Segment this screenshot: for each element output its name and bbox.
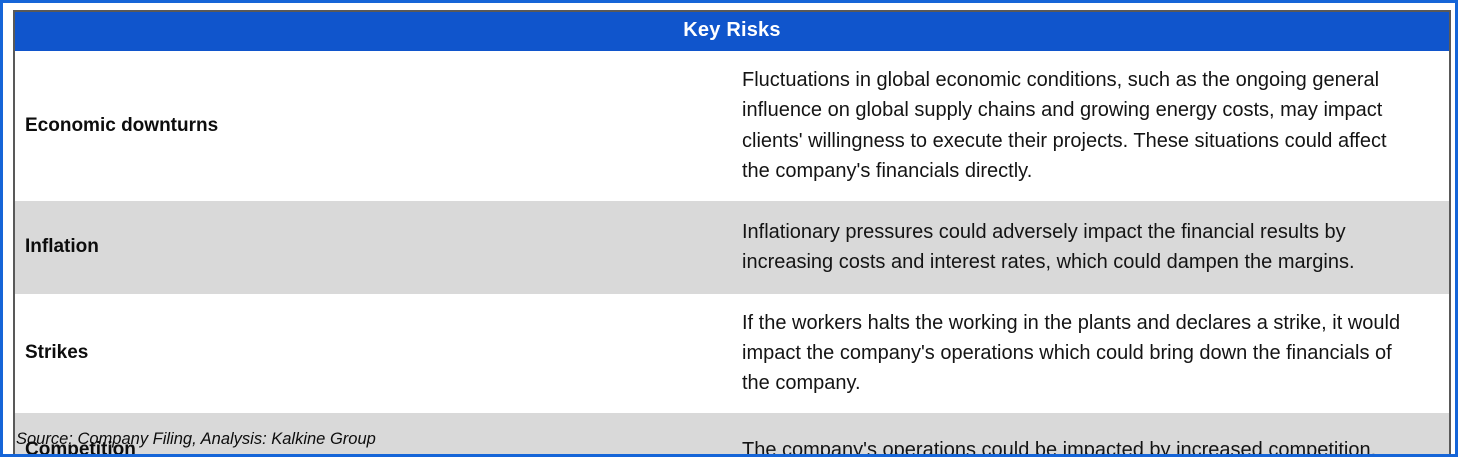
source-note: Source: Company Filing, Analysis: Kalkin…: [16, 430, 376, 449]
table-row: Inflation Inflationary pressures could a…: [14, 201, 1450, 294]
risk-description: The company's operations could be impact…: [732, 413, 1450, 457]
table-row: Economic downturns Fluctuations in globa…: [14, 51, 1450, 201]
table-header-row: Key Risks: [14, 11, 1450, 51]
table-title: Key Risks: [14, 11, 1450, 51]
key-risks-figure: Key Risks Economic downturns Fluctuation…: [0, 0, 1458, 457]
risk-description: Inflationary pressures could adversely i…: [732, 201, 1450, 294]
risk-description: Fluctuations in global economic conditio…: [732, 51, 1450, 201]
risk-description: If the workers halts the working in the …: [732, 294, 1450, 413]
table-row: Strikes If the workers halts the working…: [14, 294, 1450, 413]
risk-label: Strikes: [14, 294, 732, 413]
risk-label: Economic downturns: [14, 51, 732, 201]
risk-label: Inflation: [14, 201, 732, 294]
figure-inner: Key Risks Economic downturns Fluctuation…: [8, 8, 1456, 455]
key-risks-table: Key Risks Economic downturns Fluctuation…: [13, 10, 1451, 457]
